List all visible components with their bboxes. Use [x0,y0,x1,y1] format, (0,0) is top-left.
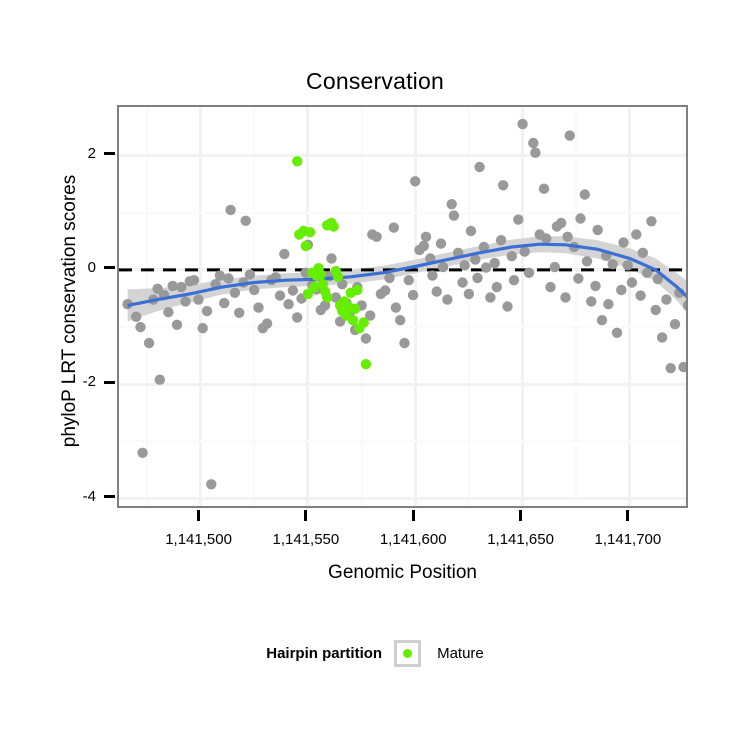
chart-title: Conservation [0,68,750,95]
x-axis-tick [412,510,415,521]
legend: Hairpin partition Mature [0,640,750,667]
legend-label-mature: Mature [437,645,484,662]
conservation-chart: Conservation 20-2-4 1,141,5001,141,5501,… [0,0,750,750]
legend-dot-icon [403,649,412,658]
plot-data-layer [119,107,688,508]
scatter-points-other [122,119,688,490]
x-axis-tick [626,510,629,521]
x-axis-tick [197,510,200,521]
legend-title: Hairpin partition [266,645,382,662]
y-axis-title: phyloP LRT conservation scores [59,111,81,511]
y-axis-tick [104,266,115,269]
x-axis-title: Genomic Position [117,562,688,584]
x-axis-tick-label: 1,141,700 [573,531,683,548]
y-axis-tick [104,381,115,384]
x-axis-tick [304,510,307,521]
y-axis-tick [104,495,115,498]
plot-panel [117,105,688,508]
x-axis-tick-label: 1,141,650 [466,531,576,548]
y-axis-tick [104,152,115,155]
x-axis-tick [519,510,522,521]
x-axis-tick-label: 1,141,550 [251,531,361,548]
x-axis-tick-label: 1,141,500 [144,531,254,548]
x-axis-tick-label: 1,141,600 [358,531,468,548]
legend-key-mature[interactable] [394,640,421,667]
